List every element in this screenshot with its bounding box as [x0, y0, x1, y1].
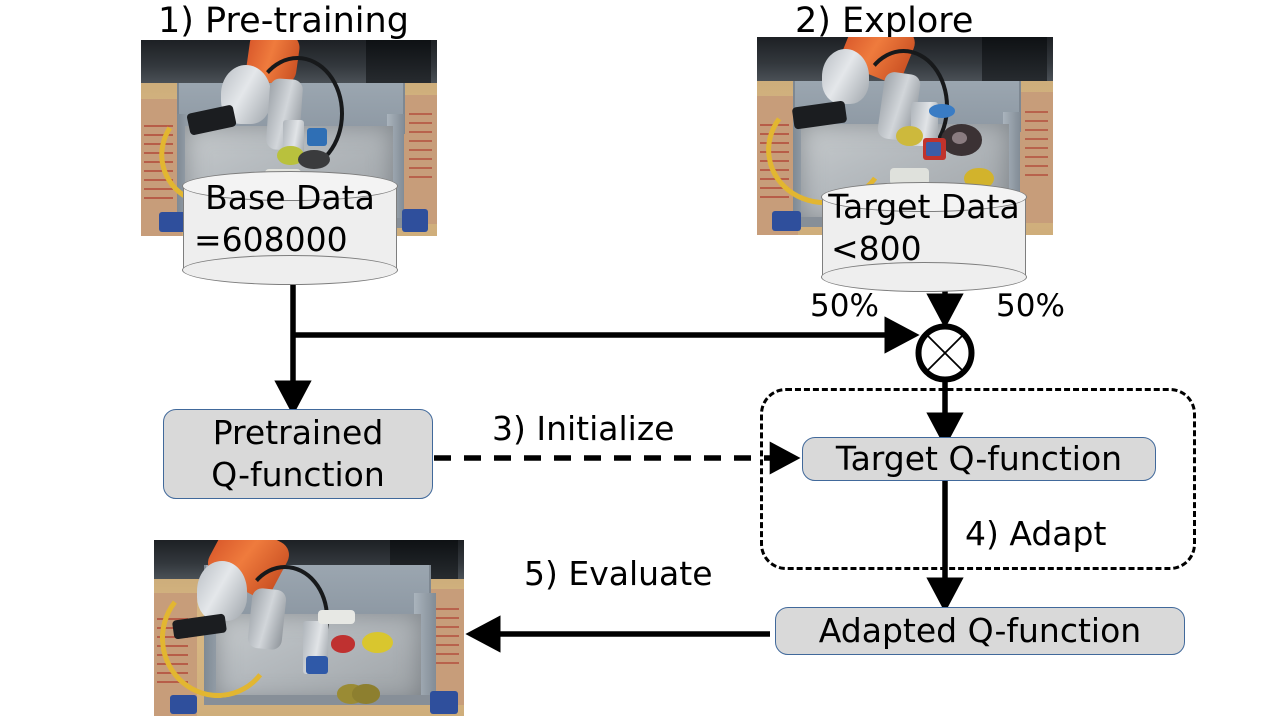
step-5-label: 5) Evaluate [524, 556, 713, 592]
datastore-target-data: Target Data <800 [822, 196, 1026, 278]
step-4-label: 4) Adapt [965, 516, 1106, 552]
target-data-line2: <800 [831, 228, 1025, 270]
photo-clamp-right [402, 209, 429, 233]
mix-ratio-left-label: 50% [810, 288, 879, 324]
photo-clamp-left [170, 695, 198, 714]
photo-object-tape-hole [952, 132, 967, 144]
photo-clamp-left [772, 211, 802, 231]
pretrained-line1: Pretrained [213, 412, 384, 454]
node-adapted-q-function[interactable]: Adapted Q-function [775, 607, 1185, 655]
node-target-q-function[interactable]: Target Q-function [802, 437, 1156, 481]
step-3-label: 3) Initialize [492, 411, 674, 447]
photo-clamp-right [430, 691, 458, 714]
step-2-title: 2) Explore [795, 2, 973, 40]
node-pretrained-q-function[interactable]: Pretrained Q-function [163, 409, 433, 499]
photo-evaluate [154, 540, 464, 716]
datastore-base-data: Base Data =608000 [183, 185, 397, 271]
photo-bin-rim [204, 695, 433, 706]
target-q-label: Target Q-function [836, 438, 1122, 480]
mixer-cross-circle-icon [919, 327, 972, 380]
base-data-line1: Base Data [184, 177, 396, 219]
photo-object-blue-clip [306, 656, 328, 674]
photo-paper-right [404, 95, 437, 224]
base-data-line2: =608000 [194, 219, 396, 261]
photo-object-yellow-ball [362, 632, 393, 653]
adapted-q-label: Adapted Q-function [819, 610, 1141, 652]
step-1-title: 1) Pre-training [158, 2, 409, 40]
target-data-line1: Target Data [823, 186, 1025, 228]
photo-object-blue-box [926, 142, 941, 156]
photo-object-tube [318, 610, 355, 624]
diagram-canvas: 1) Pre-training 2) Explore [0, 0, 1280, 720]
photo-object-apple-2 [352, 684, 380, 703]
pretrained-line2: Q-function [211, 454, 385, 496]
photo-object-pear [896, 126, 923, 146]
photo-object-red-clip [331, 635, 356, 653]
mix-ratio-right-label: 50% [996, 288, 1065, 324]
photo-object-blue-cap [307, 128, 328, 146]
